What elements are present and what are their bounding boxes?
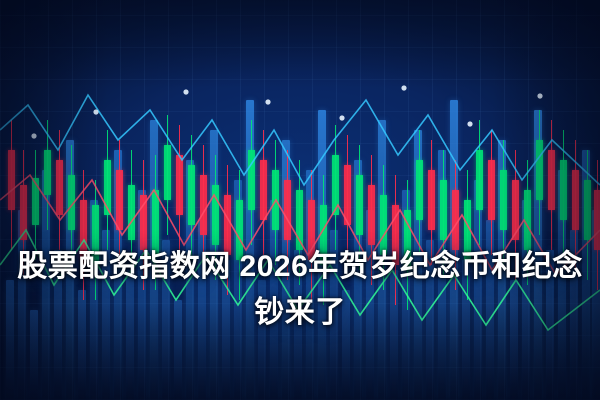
headline-text: 股票配资指数网 2026年贺岁纪念币和纪念钞来了 ，先睹为快！ [0, 152, 600, 400]
headline-line-1: 股票配资指数网 2026年贺岁纪念币和纪念钞来了 [14, 244, 586, 336]
stock-chart-banner: 股票配资指数网 2026年贺岁纪念币和纪念钞来了 ，先睹为快！ [0, 0, 600, 400]
